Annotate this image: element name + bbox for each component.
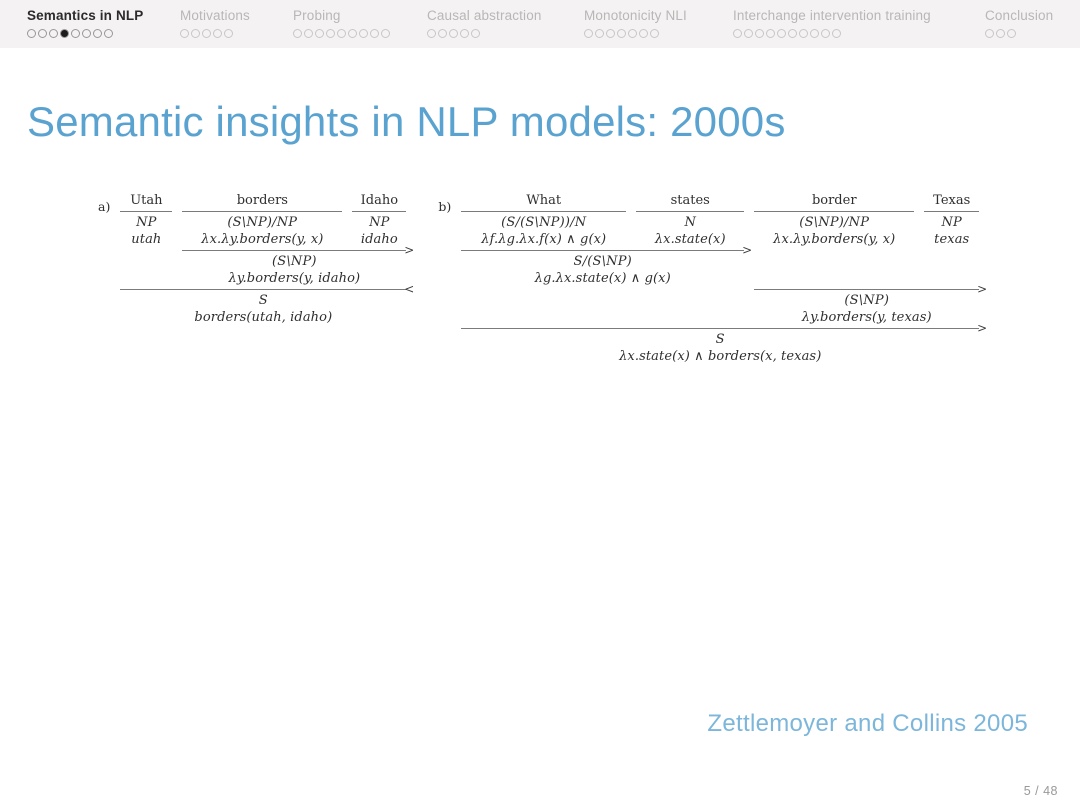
syntactic-category: NP bbox=[937, 214, 966, 231]
combinator-marker: > bbox=[742, 245, 752, 256]
nav-slide-dot[interactable] bbox=[733, 29, 742, 38]
derived-constituent: >(S\NP)λy.borders(y, idaho) bbox=[182, 248, 406, 287]
lexical-entry: TexasNPtexas bbox=[924, 193, 979, 248]
nav-slide-dot[interactable] bbox=[348, 29, 357, 38]
lexical-word: borders bbox=[231, 193, 294, 209]
logical-form: λy.borders(y, texas) bbox=[798, 309, 936, 326]
nav-slide-dot[interactable] bbox=[777, 29, 786, 38]
panel-label: a) bbox=[98, 193, 120, 214]
nav-section-label: Causal abstraction bbox=[427, 9, 542, 23]
nav-slide-dot[interactable] bbox=[293, 29, 302, 38]
derivation-step: >Sλx.state(x) ∧ borders(x, texas) bbox=[461, 326, 979, 365]
nav-slide-dot[interactable] bbox=[628, 29, 637, 38]
nav-slide-dot[interactable] bbox=[191, 29, 200, 38]
lexical-word: Texas bbox=[927, 193, 976, 209]
combination-rule-line: > bbox=[182, 248, 406, 253]
nav-slide-dot[interactable] bbox=[460, 29, 469, 38]
nav-slide-dot[interactable] bbox=[326, 29, 335, 38]
nav-slide-dot[interactable] bbox=[304, 29, 313, 38]
combinator-marker: > bbox=[977, 284, 987, 295]
nav-slide-dot[interactable] bbox=[82, 29, 91, 38]
nav-section-semantics-in-nlp[interactable]: Semantics in NLP bbox=[27, 0, 143, 38]
derivation-panel-a: a)UtahNPutahborders(S\NP)/NPλx.λy.border… bbox=[98, 193, 406, 326]
logical-form: λx.state(x) bbox=[651, 231, 730, 248]
nav-slide-dot[interactable] bbox=[985, 29, 994, 38]
nav-slide-dot[interactable] bbox=[180, 29, 189, 38]
ccg-derivation-figure: a)UtahNPutahborders(S\NP)/NPλx.λy.border… bbox=[98, 193, 979, 365]
nav-slide-dot[interactable] bbox=[224, 29, 233, 38]
logical-form: idaho bbox=[357, 231, 402, 248]
combination-rule-line: < bbox=[120, 287, 406, 292]
logical-form: texas bbox=[930, 231, 973, 248]
nav-section-label: Interchange intervention training bbox=[733, 9, 931, 23]
syntactic-category: (S\NP)/NP bbox=[795, 214, 873, 231]
derivation-tree: What(S/(S\NP))/Nλf.λg.λx.f(x) ∧ g(x)stat… bbox=[461, 193, 979, 365]
nav-slide-dot[interactable] bbox=[438, 29, 447, 38]
nav-slide-dot[interactable] bbox=[449, 29, 458, 38]
lexical-word: border bbox=[806, 193, 863, 209]
nav-slide-dot[interactable] bbox=[584, 29, 593, 38]
nav-slide-dot[interactable] bbox=[650, 29, 659, 38]
syntactic-category: (S\NP)/NP bbox=[223, 214, 301, 231]
syntactic-category: S bbox=[712, 331, 729, 348]
lexical-rule-line bbox=[924, 209, 979, 214]
nav-slide-dot[interactable] bbox=[93, 29, 102, 38]
lexical-row: UtahNPutahborders(S\NP)/NPλx.λy.borders(… bbox=[120, 193, 406, 248]
logical-form: utah bbox=[127, 231, 165, 248]
nav-slide-dots bbox=[584, 29, 659, 38]
derivation-step: <Sborders(utah, idaho) bbox=[120, 287, 406, 326]
nav-slide-dots bbox=[180, 29, 233, 38]
nav-section-monotonicity-nli[interactable]: Monotonicity NLI bbox=[584, 0, 687, 38]
lexical-rule-line bbox=[754, 209, 914, 214]
panel-label: b) bbox=[438, 193, 461, 214]
nav-slide-dot[interactable] bbox=[606, 29, 615, 38]
nav-slide-dot[interactable] bbox=[595, 29, 604, 38]
nav-slide-dot[interactable] bbox=[471, 29, 480, 38]
syntactic-category: (S/(S\NP))/N bbox=[497, 214, 590, 231]
derivation-step: >S/(S\NP)λg.λx.state(x) ∧ g(x) bbox=[461, 248, 979, 287]
lexical-entry: statesNλx.state(x) bbox=[636, 193, 744, 248]
lexical-word: Idaho bbox=[355, 193, 404, 209]
syntactic-category: N bbox=[680, 214, 700, 231]
nav-slide-dot[interactable] bbox=[1007, 29, 1016, 38]
lexical-row: What(S/(S\NP))/Nλf.λg.λx.f(x) ∧ g(x)stat… bbox=[461, 193, 979, 248]
nav-slide-dot[interactable] bbox=[821, 29, 830, 38]
derived-constituent: >Sλx.state(x) ∧ borders(x, texas) bbox=[461, 326, 979, 365]
combinator-marker: > bbox=[977, 323, 987, 334]
logical-form: λx.λy.borders(y, x) bbox=[769, 231, 899, 248]
logical-form: λf.λg.λx.f(x) ∧ g(x) bbox=[477, 231, 610, 248]
lexical-entry: UtahNPutah bbox=[120, 193, 172, 248]
syntactic-category: (S\NP) bbox=[268, 253, 321, 270]
derived-constituent: <Sborders(utah, idaho) bbox=[120, 287, 406, 326]
lexical-word: states bbox=[665, 193, 716, 209]
nav-slide-dot[interactable] bbox=[27, 29, 36, 38]
nav-section-label: Monotonicity NLI bbox=[584, 9, 687, 23]
nav-slide-dot[interactable] bbox=[213, 29, 222, 38]
lexical-entry: borders(S\NP)/NPλx.λy.borders(y, x) bbox=[182, 193, 342, 248]
combination-rule-line: > bbox=[754, 287, 979, 292]
nav-slide-dot[interactable] bbox=[202, 29, 211, 38]
syntactic-category: (S\NP) bbox=[840, 292, 893, 309]
logical-form: λy.borders(y, idaho) bbox=[224, 270, 364, 287]
syntactic-category: NP bbox=[132, 214, 161, 231]
nav-section-label: Conclusion bbox=[985, 9, 1053, 23]
nav-slide-dots bbox=[985, 29, 1016, 38]
nav-slide-dot[interactable] bbox=[38, 29, 47, 38]
logical-form: λg.λx.state(x) ∧ g(x) bbox=[531, 270, 675, 287]
nav-slide-dot[interactable] bbox=[799, 29, 808, 38]
nav-section-conclusion[interactable]: Conclusion bbox=[985, 0, 1053, 38]
nav-slide-dot[interactable] bbox=[370, 29, 379, 38]
lexical-entry: IdahoNPidaho bbox=[352, 193, 406, 248]
nav-slide-dots bbox=[427, 29, 480, 38]
nav-section-label: Semantics in NLP bbox=[27, 9, 143, 23]
nav-slide-dot-current[interactable] bbox=[60, 29, 69, 38]
nav-slide-dot[interactable] bbox=[810, 29, 819, 38]
nav-slide-dots bbox=[27, 29, 113, 38]
lexical-rule-line bbox=[636, 209, 744, 214]
citation: Zettlemoyer and Collins 2005 bbox=[707, 710, 1028, 738]
logical-form: borders(utah, idaho) bbox=[190, 309, 336, 326]
combination-rule-line: > bbox=[461, 326, 979, 331]
nav-slide-dot[interactable] bbox=[832, 29, 841, 38]
derivation-tree: UtahNPutahborders(S\NP)/NPλx.λy.borders(… bbox=[120, 193, 406, 326]
nav-slide-dot[interactable] bbox=[49, 29, 58, 38]
derivation-step: >(S\NP)λy.borders(y, idaho) bbox=[120, 248, 406, 287]
derivation-panel-b: b)What(S/(S\NP))/Nλf.λg.λx.f(x) ∧ g(x)st… bbox=[438, 193, 979, 365]
nav-section-causal-abstraction[interactable]: Causal abstraction bbox=[427, 0, 542, 38]
syntactic-category: NP bbox=[365, 214, 394, 231]
nav-slide-dot[interactable] bbox=[337, 29, 346, 38]
page-title: Semantic insights in NLP models: 2000s bbox=[27, 98, 786, 146]
lexical-word: What bbox=[520, 193, 567, 209]
nav-slide-dot[interactable] bbox=[381, 29, 390, 38]
nav-section-interchange-intervention-training[interactable]: Interchange intervention training bbox=[733, 0, 931, 38]
navigation-bar: Semantics in NLPMotivationsProbingCausal… bbox=[0, 0, 1080, 48]
nav-slide-dot[interactable] bbox=[755, 29, 764, 38]
logical-form: λx.state(x) ∧ borders(x, texas) bbox=[615, 348, 825, 365]
syntactic-category: S/(S\NP) bbox=[570, 253, 636, 270]
nav-section-label: Motivations bbox=[180, 9, 250, 23]
nav-slide-dot[interactable] bbox=[359, 29, 368, 38]
nav-slide-dot[interactable] bbox=[788, 29, 797, 38]
nav-slide-dot[interactable] bbox=[639, 29, 648, 38]
nav-slide-dot[interactable] bbox=[744, 29, 753, 38]
syntactic-category: S bbox=[255, 292, 272, 309]
combination-rule-line: > bbox=[461, 248, 744, 253]
logical-form: λx.λy.borders(y, x) bbox=[197, 231, 327, 248]
derived-constituent: >(S\NP)λy.borders(y, texas) bbox=[754, 287, 979, 326]
lexical-rule-line bbox=[120, 209, 172, 214]
nav-slide-dot[interactable] bbox=[315, 29, 324, 38]
nav-slide-dot[interactable] bbox=[104, 29, 113, 38]
derived-constituent: >S/(S\NP)λg.λx.state(x) ∧ g(x) bbox=[461, 248, 744, 287]
derivation-step: >(S\NP)λy.borders(y, texas) bbox=[461, 287, 979, 326]
nav-slide-dot[interactable] bbox=[427, 29, 436, 38]
lexical-word: Utah bbox=[124, 193, 168, 209]
lexical-entry: border(S\NP)/NPλx.λy.borders(y, x) bbox=[754, 193, 914, 248]
nav-slide-dots bbox=[733, 29, 841, 38]
nav-slide-dot[interactable] bbox=[996, 29, 1005, 38]
nav-section-probing[interactable]: Probing bbox=[293, 0, 390, 38]
nav-slide-dot[interactable] bbox=[617, 29, 626, 38]
lexical-rule-line bbox=[182, 209, 342, 214]
lexical-rule-line bbox=[461, 209, 626, 214]
nav-section-label: Probing bbox=[293, 9, 341, 23]
nav-slide-dot[interactable] bbox=[71, 29, 80, 38]
nav-section-motivations[interactable]: Motivations bbox=[180, 0, 250, 38]
combinator-marker: < bbox=[404, 284, 414, 295]
combinator-marker: > bbox=[404, 245, 414, 256]
lexical-rule-line bbox=[352, 209, 406, 214]
nav-slide-dots bbox=[293, 29, 390, 38]
lexical-entry: What(S/(S\NP))/Nλf.λg.λx.f(x) ∧ g(x) bbox=[461, 193, 626, 248]
nav-slide-dot[interactable] bbox=[766, 29, 775, 38]
page-number: 5 / 48 bbox=[1024, 784, 1058, 798]
